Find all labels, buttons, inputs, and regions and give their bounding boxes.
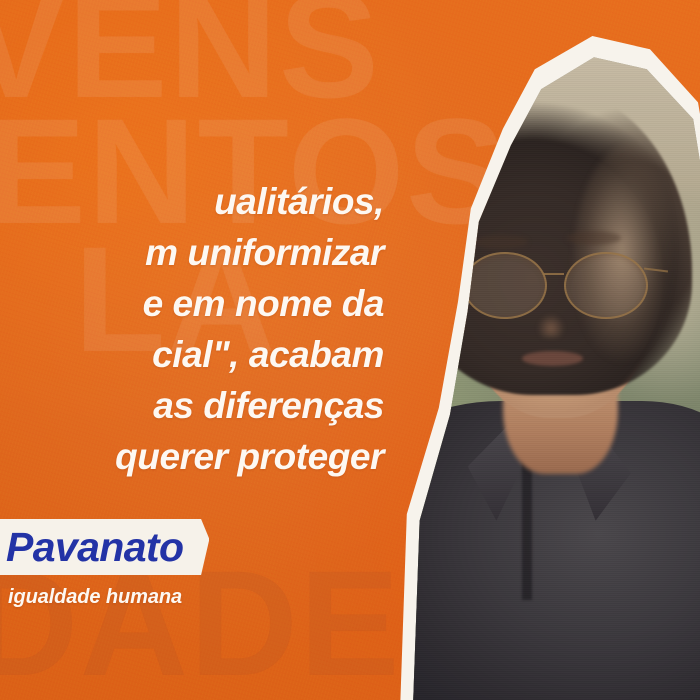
quote-text: ualitários, m uniformizar e em nome da c…: [0, 176, 384, 482]
author-name: Pavanato: [6, 527, 183, 568]
glasses-lens-right: [564, 252, 647, 319]
name-badge: Pavanato: [0, 519, 209, 575]
quote-line-1: ualitários,: [0, 176, 384, 227]
person-nose: [535, 305, 567, 338]
portrait-cutout: [394, 36, 700, 700]
quote-line-2: m uniformizar: [0, 227, 384, 278]
shirt-placket: [522, 454, 532, 600]
quote-line-3: e em nome da: [0, 278, 384, 329]
glasses-bridge: [543, 273, 565, 275]
quote-card: VENS ENTOS LA DADE ualitários, m uniform…: [0, 0, 700, 700]
quote-line-4: cial", acabam: [0, 329, 384, 380]
quote-line-5: as diferenças: [0, 380, 384, 431]
watermark-line-4: DADE: [0, 560, 401, 686]
author-subtitle: igualdade humana: [0, 585, 182, 609]
portrait-photo: [394, 36, 700, 700]
person-mouth: [522, 351, 583, 366]
quote-line-6: querer proteger: [0, 431, 384, 482]
